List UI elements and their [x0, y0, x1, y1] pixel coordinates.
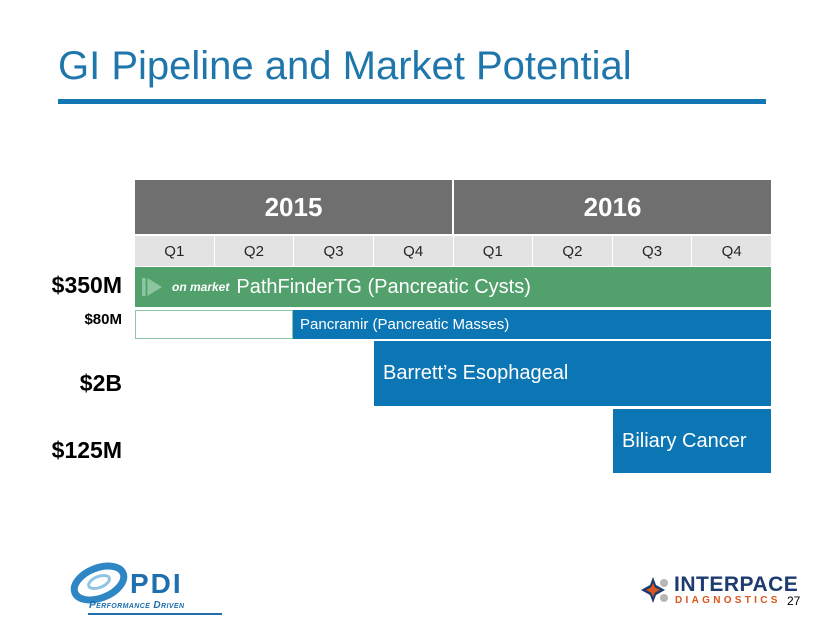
quarter-cell-2016-q4: Q4 [692, 236, 771, 266]
quarter-cell-2015-q1: Q1 [135, 236, 214, 266]
market-value-pathfinder: $350M [10, 272, 122, 299]
gantt-bar-label-pathfindertg: PathFinderTG (Pancreatic Cysts) [236, 276, 531, 299]
gantt-row-pancramir: Pancramir (Pancreatic Masses) [135, 310, 771, 339]
quarter-header-row: Q1 Q2 Q3 Q4 Q1 Q2 Q3 Q4 [135, 236, 771, 266]
year-cell-2016: 2016 [454, 180, 771, 234]
pdi-logo: PDI Performance Driven [68, 562, 243, 618]
status-badge-on-market: on market [172, 280, 229, 294]
pdi-wordmark: PDI [130, 568, 183, 600]
gantt-bar-biliary-cancer[interactable]: Biliary Cancer [613, 409, 771, 473]
gantt-bar-spacer-pancramir [135, 310, 293, 339]
pdi-tagline: Performance Driven [89, 600, 184, 611]
market-value-barretts: $2B [10, 370, 122, 397]
title-underline-rule [58, 99, 766, 104]
page-title: GI Pipeline and Market Potential [58, 44, 632, 89]
timeline-header: 2015 2016 Q1 Q2 Q3 Q4 Q1 Q2 Q3 Q4 [135, 180, 771, 266]
interpace-logo: INTERPACE DIAGNOSTICS [637, 573, 772, 611]
page-number: 27 [787, 594, 800, 608]
gantt-bar-pathfindertg[interactable]: on market PathFinderTG (Pancreatic Cysts… [135, 267, 771, 307]
gantt-bar-barretts-esophageal[interactable]: Barrett’s Esophageal [374, 341, 771, 406]
year-header-row: 2015 2016 [135, 180, 771, 234]
interpace-star-icon [637, 575, 671, 605]
interpace-sub-wordmark: DIAGNOSTICS [675, 595, 781, 606]
gantt-bar-pancramir[interactable]: Pancramir (Pancreatic Masses) [293, 310, 771, 339]
quarter-cell-2016-q1: Q1 [454, 236, 533, 266]
year-cell-2015: 2015 [135, 180, 452, 234]
market-value-biliary: $125M [10, 437, 122, 464]
pdi-underline [88, 613, 222, 615]
pipeline-gantt-chart: on market PathFinderTG (Pancreatic Cysts… [135, 267, 771, 472]
play-arrow-icon [141, 275, 165, 299]
gantt-bar-label-biliary-cancer: Biliary Cancer [622, 430, 746, 453]
quarter-cell-2016-q3: Q3 [613, 236, 692, 266]
quarter-cell-2015-q2: Q2 [215, 236, 294, 266]
quarter-cell-2016-q2: Q2 [533, 236, 612, 266]
gantt-bar-label-barretts-esophageal: Barrett’s Esophageal [383, 362, 568, 385]
quarter-cell-2015-q3: Q3 [294, 236, 373, 266]
quarter-cell-2015-q4: Q4 [374, 236, 453, 266]
market-value-pancramir: $80M [10, 311, 122, 328]
gantt-bar-label-pancramir: Pancramir (Pancreatic Masses) [300, 316, 509, 333]
interpace-wordmark: INTERPACE [674, 573, 798, 597]
